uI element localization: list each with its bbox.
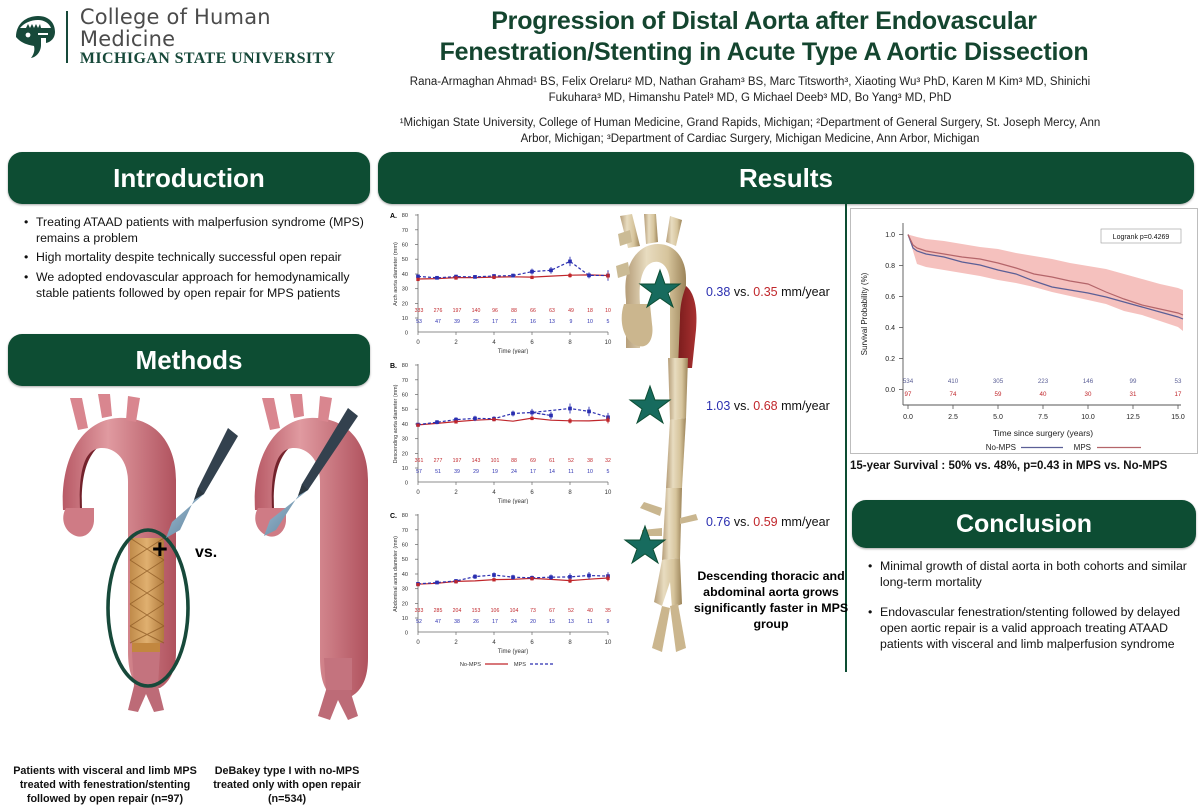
svg-text:5: 5 xyxy=(607,319,610,325)
svg-text:14: 14 xyxy=(549,469,555,475)
svg-text:61: 61 xyxy=(549,458,555,464)
unit-label: mm/year xyxy=(781,285,830,299)
logrank-annotation: Logrank p=0.4269 xyxy=(1101,229,1181,243)
vs-label: vs. xyxy=(734,399,750,413)
svg-text:49: 49 xyxy=(568,308,574,314)
svg-text:53: 53 xyxy=(1175,378,1182,385)
svg-text:29: 29 xyxy=(473,469,479,475)
list-item: Treating ATAAD patients with malperfusio… xyxy=(26,214,370,246)
poster-header: College of Human Medicine MICHIGAN STATE… xyxy=(0,0,1200,152)
svg-text:24: 24 xyxy=(511,469,517,475)
svg-text:10: 10 xyxy=(587,319,593,325)
svg-text:2: 2 xyxy=(454,640,458,646)
svg-text:73: 73 xyxy=(530,608,536,614)
growth-rate-descending-mps: 1.03 xyxy=(706,399,730,413)
svg-text:40: 40 xyxy=(402,272,408,278)
svg-text:361: 361 xyxy=(415,458,424,464)
left-column: Introduction Treating ATAAD patients wit… xyxy=(8,152,370,672)
svg-text:4: 4 xyxy=(492,340,496,346)
svg-text:39: 39 xyxy=(454,319,460,325)
svg-text:40: 40 xyxy=(587,608,593,614)
svg-text:2: 2 xyxy=(454,340,458,346)
svg-text:96: 96 xyxy=(492,308,498,314)
svg-text:10: 10 xyxy=(402,616,408,622)
svg-text:20: 20 xyxy=(530,619,536,625)
svg-text:277: 277 xyxy=(434,458,443,464)
svg-text:30: 30 xyxy=(402,287,408,293)
svg-text:143: 143 xyxy=(472,458,481,464)
university-name: MICHIGAN STATE UNIVERSITY xyxy=(80,50,358,68)
svg-text:52: 52 xyxy=(416,619,422,625)
affiliation-line-1: ¹Michigan State University, College of H… xyxy=(300,115,1200,131)
svg-text:18: 18 xyxy=(587,308,593,314)
svg-text:333: 333 xyxy=(415,608,424,614)
svg-text:53: 53 xyxy=(416,319,422,325)
svg-text:12.5: 12.5 xyxy=(1126,414,1140,421)
chart-legend: No-MPS MPS xyxy=(460,662,553,668)
svg-text:10: 10 xyxy=(605,308,611,314)
svg-text:13: 13 xyxy=(549,319,555,325)
growth-rate-descending-nomps: 0.68 xyxy=(753,399,777,413)
svg-text:10: 10 xyxy=(605,340,612,346)
svg-text:Logrank p=0.4269: Logrank p=0.4269 xyxy=(1113,234,1170,241)
results-highlight-note: Descending thoracic and abdominal aorta … xyxy=(692,568,850,633)
svg-text:70: 70 xyxy=(402,378,408,384)
svg-text:17: 17 xyxy=(1175,391,1182,398)
section-header-introduction: Introduction xyxy=(8,152,370,204)
section-header-methods: Methods xyxy=(8,334,370,386)
svg-text:333: 333 xyxy=(415,308,424,314)
svg-text:38: 38 xyxy=(587,458,593,464)
introduction-bullets: Treating ATAAD patients with malperfusio… xyxy=(10,214,370,304)
unit-label: mm/year xyxy=(781,399,830,413)
svg-text:52: 52 xyxy=(568,458,574,464)
svg-text:20: 20 xyxy=(402,301,408,307)
svg-text:A.: A. xyxy=(390,213,397,220)
svg-text:8: 8 xyxy=(568,640,572,646)
svg-text:38: 38 xyxy=(454,619,460,625)
svg-text:6: 6 xyxy=(530,340,534,346)
svg-text:60: 60 xyxy=(402,543,408,549)
svg-text:39: 39 xyxy=(454,469,460,475)
svg-text:21: 21 xyxy=(511,319,517,325)
survival-summary: 15-year Survival : 50% vs. 48%, p=0.43 i… xyxy=(850,460,1198,472)
svg-text:1.0: 1.0 xyxy=(885,232,895,239)
svg-text:60: 60 xyxy=(402,393,408,399)
growth-rate-arch-mps: 0.38 xyxy=(706,285,730,299)
risk-row-nomps: 333276197 1409688 666349 1810 xyxy=(415,308,611,314)
svg-text:Time (year): Time (year) xyxy=(498,349,528,354)
svg-text:47: 47 xyxy=(435,319,441,325)
svg-text:MPS: MPS xyxy=(1074,443,1091,452)
svg-text:47: 47 xyxy=(435,619,441,625)
svg-text:24: 24 xyxy=(511,619,517,625)
svg-text:51: 51 xyxy=(435,469,441,475)
affiliation-line-2: Arbor, Michigan; ³Department of Cardiac … xyxy=(300,131,1200,147)
chart-panel-a: A. 80 70 60 50 40 30 20 10 0 0 2 4 6 xyxy=(386,206,616,354)
svg-text:74: 74 xyxy=(950,391,957,398)
svg-text:25: 25 xyxy=(473,319,479,325)
svg-text:146: 146 xyxy=(1083,378,1094,385)
svg-text:30: 30 xyxy=(402,587,408,593)
section-header-conclusion: Conclusion xyxy=(852,500,1196,548)
svg-text:223: 223 xyxy=(1038,378,1049,385)
svg-text:13: 13 xyxy=(568,619,574,625)
svg-text:305: 305 xyxy=(993,378,1004,385)
vs-label: vs. xyxy=(734,285,750,299)
spartan-helmet-icon xyxy=(8,11,60,63)
svg-text:11: 11 xyxy=(587,619,592,625)
poster-canvas: College of Human Medicine MICHIGAN STATE… xyxy=(0,0,1200,675)
title-line-1: Progression of Distal Aorta after Endova… xyxy=(330,6,1198,37)
svg-text:7.5: 7.5 xyxy=(1038,414,1048,421)
list-item: We adopted endovascular approach for hem… xyxy=(26,269,370,301)
svg-text:285: 285 xyxy=(434,608,443,614)
svg-text:50: 50 xyxy=(402,257,408,263)
svg-text:15: 15 xyxy=(549,619,555,625)
title-line-2: Fenestration/Stenting in Acute Type A Ao… xyxy=(330,37,1198,68)
svg-text:40: 40 xyxy=(1040,391,1047,398)
svg-text:0: 0 xyxy=(416,340,420,346)
growth-rate-abdominal-mps: 0.76 xyxy=(706,515,730,529)
svg-text:Abdominal aorta diameter (mm): Abdominal aorta diameter (mm) xyxy=(393,536,399,612)
svg-text:80: 80 xyxy=(402,213,408,219)
chart-panel-c: C. 8070 6050 4030 2010 0 02 46 xyxy=(386,506,616,672)
svg-text:0: 0 xyxy=(416,490,420,496)
svg-text:0.6: 0.6 xyxy=(885,294,895,301)
svg-text:35: 35 xyxy=(605,608,611,614)
scalpel-left-icon xyxy=(166,428,238,538)
svg-text:15.0: 15.0 xyxy=(1171,414,1185,421)
svg-text:63: 63 xyxy=(549,308,555,314)
svg-text:80: 80 xyxy=(402,513,408,519)
svg-text:534: 534 xyxy=(903,378,914,385)
svg-text:30: 30 xyxy=(1085,391,1092,398)
svg-text:40: 40 xyxy=(402,572,408,578)
vs-symbol: vs. xyxy=(195,544,217,562)
svg-text:0.4: 0.4 xyxy=(885,325,895,332)
aorta-right-graphic xyxy=(255,394,368,720)
plus-symbol: + xyxy=(152,534,168,565)
svg-text:Survival Probability (%): Survival Probability (%) xyxy=(860,272,869,355)
right-column: 1.00.80.6 0.40.20.0 0.02.55.0 7.510.012.… xyxy=(850,208,1198,672)
aorta-left-graphic xyxy=(63,394,188,712)
km-legend: No-MPS MPS xyxy=(986,443,1141,452)
logo-divider xyxy=(66,11,68,63)
svg-text:6: 6 xyxy=(530,640,534,646)
svg-text:410: 410 xyxy=(948,378,959,385)
svg-text:69: 69 xyxy=(530,458,536,464)
svg-text:6: 6 xyxy=(530,490,534,496)
kaplan-meier-chart: 1.00.80.6 0.40.20.0 0.02.55.0 7.510.012.… xyxy=(850,208,1198,454)
svg-text:10: 10 xyxy=(605,490,612,496)
svg-text:101: 101 xyxy=(491,458,500,464)
page-title: Progression of Distal Aorta after Endova… xyxy=(330,6,1198,67)
svg-text:88: 88 xyxy=(511,458,517,464)
authors-line-2: Fukuhara³ MD, Himanshu Patel³ MD, G Mich… xyxy=(300,90,1200,106)
risk-row-mps: 534739 251721 16139 105 xyxy=(416,319,609,325)
svg-text:Arch aorta diameter (mm): Arch aorta diameter (mm) xyxy=(393,242,399,306)
svg-text:32: 32 xyxy=(605,458,611,464)
svg-text:5.0: 5.0 xyxy=(993,414,1003,421)
svg-text:5: 5 xyxy=(607,469,610,475)
svg-text:30: 30 xyxy=(402,437,408,443)
svg-text:67: 67 xyxy=(549,608,555,614)
growth-rate-abdominal: 0.76 vs. 0.59 mm/year xyxy=(706,515,830,529)
svg-text:99: 99 xyxy=(1130,378,1137,385)
svg-text:MPS: MPS xyxy=(514,662,526,668)
svg-text:10.0: 10.0 xyxy=(1081,414,1095,421)
vs-label: vs. xyxy=(734,515,750,529)
svg-text:197: 197 xyxy=(453,308,462,314)
svg-text:19: 19 xyxy=(492,469,498,475)
svg-text:66: 66 xyxy=(530,308,536,314)
svg-text:140: 140 xyxy=(472,308,481,314)
svg-text:Descending aorta diameter (mm): Descending aorta diameter (mm) xyxy=(393,384,399,463)
svg-text:106: 106 xyxy=(491,608,500,614)
svg-text:70: 70 xyxy=(402,528,408,534)
methods-figure xyxy=(8,390,370,760)
list-item: Endovascular fenestration/stenting follo… xyxy=(870,604,1196,653)
svg-text:57: 57 xyxy=(416,469,422,475)
svg-text:104: 104 xyxy=(510,608,519,614)
svg-text:17: 17 xyxy=(530,469,536,475)
svg-text:4: 4 xyxy=(492,490,496,496)
svg-text:60: 60 xyxy=(402,243,408,249)
growth-rate-arch-nomps: 0.35 xyxy=(753,285,777,299)
svg-text:0.0: 0.0 xyxy=(903,414,913,421)
affiliations: ¹Michigan State University, College of H… xyxy=(300,115,1200,148)
svg-text:97: 97 xyxy=(905,391,912,398)
svg-text:No-MPS: No-MPS xyxy=(986,443,1016,452)
svg-text:50: 50 xyxy=(402,557,408,563)
chart-panel-b: B. 8070 6050 4030 2010 0 02 46 xyxy=(386,356,616,504)
svg-text:10: 10 xyxy=(402,466,408,472)
svg-text:17: 17 xyxy=(492,319,498,325)
svg-text:59: 59 xyxy=(995,391,1002,398)
svg-text:70: 70 xyxy=(402,228,408,234)
msu-logo: College of Human Medicine MICHIGAN STATE… xyxy=(8,8,358,66)
svg-text:20: 20 xyxy=(402,451,408,457)
svg-text:9: 9 xyxy=(570,319,573,325)
growth-rate-descending: 1.03 vs. 0.68 mm/year xyxy=(706,399,830,413)
svg-text:0: 0 xyxy=(405,481,408,487)
svg-text:No-MPS: No-MPS xyxy=(460,662,481,668)
list-item: High mortality despite technically succe… xyxy=(26,249,370,265)
confidence-band xyxy=(908,235,1183,332)
svg-text:10: 10 xyxy=(587,469,593,475)
svg-text:204: 204 xyxy=(453,608,462,614)
svg-text:0.0: 0.0 xyxy=(885,387,895,394)
svg-text:31: 31 xyxy=(1130,391,1137,398)
svg-text:Time (year): Time (year) xyxy=(498,499,528,504)
svg-text:9: 9 xyxy=(607,619,610,625)
authors-line-1: Rana-Armaghan Ahmad¹ BS, Felix Orelaru² … xyxy=(300,74,1200,90)
svg-text:52: 52 xyxy=(568,608,574,614)
list-item: Minimal growth of distal aorta in both c… xyxy=(870,558,1196,591)
svg-text:B.: B. xyxy=(390,363,397,370)
svg-text:153: 153 xyxy=(472,608,481,614)
growth-rate-abdominal-nomps: 0.59 xyxy=(753,515,777,529)
svg-text:0: 0 xyxy=(405,331,408,337)
svg-text:0.2: 0.2 xyxy=(885,356,895,363)
star-marker xyxy=(630,386,670,423)
svg-text:80: 80 xyxy=(402,363,408,369)
svg-text:10: 10 xyxy=(402,316,408,322)
svg-text:8: 8 xyxy=(568,490,572,496)
svg-text:197: 197 xyxy=(453,458,462,464)
svg-text:16: 16 xyxy=(530,319,536,325)
svg-text:88: 88 xyxy=(511,308,517,314)
methods-caption-left: Patients with visceral and limb MPS trea… xyxy=(10,764,200,806)
section-header-results: Results xyxy=(378,152,1194,204)
svg-text:40: 40 xyxy=(402,422,408,428)
svg-text:276: 276 xyxy=(434,308,443,314)
unit-label: mm/year xyxy=(781,515,830,529)
km-risk-row-mps: 977459 403031 17 xyxy=(905,391,1182,398)
svg-text:20: 20 xyxy=(402,601,408,607)
methods-caption-right: DeBakey type I with no-MPS treated only … xyxy=(204,764,370,806)
svg-text:50: 50 xyxy=(402,407,408,413)
svg-text:Time (year): Time (year) xyxy=(498,649,528,655)
svg-text:C.: C. xyxy=(390,513,397,520)
svg-text:2: 2 xyxy=(454,490,458,496)
conclusion-bullets: Minimal growth of distal aorta in both c… xyxy=(854,558,1196,666)
author-list: Rana-Armaghan Ahmad¹ BS, Felix Orelaru² … xyxy=(300,74,1200,107)
svg-text:10: 10 xyxy=(605,640,612,646)
svg-text:8: 8 xyxy=(568,340,572,346)
svg-text:0: 0 xyxy=(416,640,420,646)
svg-text:11: 11 xyxy=(568,469,573,475)
college-name: College of Human Medicine xyxy=(80,6,358,50)
svg-text:0: 0 xyxy=(405,631,408,637)
svg-text:4: 4 xyxy=(492,640,496,646)
svg-text:17: 17 xyxy=(492,619,498,625)
svg-text:2.5: 2.5 xyxy=(948,414,958,421)
km-risk-row-nomps: 534410305 22314699 53 xyxy=(903,378,1182,385)
svg-text:0.8: 0.8 xyxy=(885,263,895,270)
svg-text:26: 26 xyxy=(473,619,479,625)
svg-text:Time since surgery (years): Time since surgery (years) xyxy=(993,428,1093,438)
growth-rate-arch: 0.38 vs. 0.35 mm/year xyxy=(706,285,830,299)
